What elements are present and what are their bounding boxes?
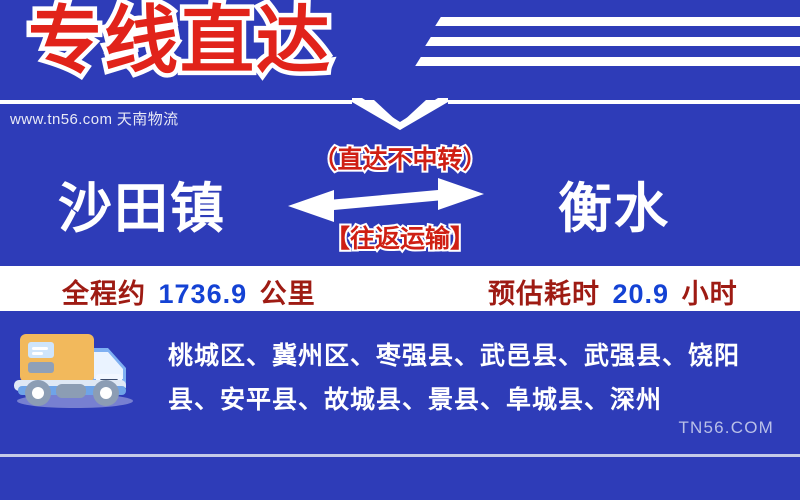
origin-city: 沙田镇 <box>58 164 226 243</box>
duration-metric: 预估耗时 20.9 小时 <box>488 272 738 311</box>
footer-address-bar: 公司地址：物流园区（请咨询我公司客服发详细定位） <box>0 457 800 500</box>
speed-stripe-2 <box>425 37 800 46</box>
divider-line-left <box>0 100 352 104</box>
duration-label: 预估耗时 <box>488 279 600 309</box>
coverage-area-list: 桃城区、冀州区、枣强县、武邑县、武强县、饶阳县、安平县、故城县、景县、阜城县、深… <box>168 334 788 422</box>
metrics-band: 全程约 1736.9 公里 预估耗时 20.9 小时 <box>0 266 800 311</box>
distance-unit: 公里 <box>260 279 316 309</box>
page-title: 专线直达 <box>28 2 332 80</box>
site-url-label: www.tn56.com 天南物流 <box>10 108 179 129</box>
distance-metric: 全程约 1736.9 公里 <box>62 272 316 311</box>
chevron-down-icon <box>352 98 448 130</box>
speed-stripe-3 <box>415 57 800 66</box>
destination-city: 衡水 <box>558 164 670 243</box>
double-arrow-icon <box>288 178 484 222</box>
speed-stripe-1 <box>435 17 800 26</box>
duration-value: 20.9 <box>613 279 670 309</box>
watermark-label: TN56.COM <box>678 418 774 438</box>
distance-label: 全程约 <box>62 279 146 309</box>
delivery-truck-icon <box>10 322 140 410</box>
nonstop-note: （直达不中转） <box>300 140 500 176</box>
duration-unit: 小时 <box>682 279 738 309</box>
distance-value: 1736.9 <box>159 279 248 309</box>
divider-line-right <box>448 100 800 104</box>
roundtrip-note: 【往返运输】 <box>300 219 500 255</box>
logistics-route-banner: 专线直达 www.tn56.com 天南物流 （直达不中转） 沙田镇 衡水 【往… <box>0 0 800 500</box>
